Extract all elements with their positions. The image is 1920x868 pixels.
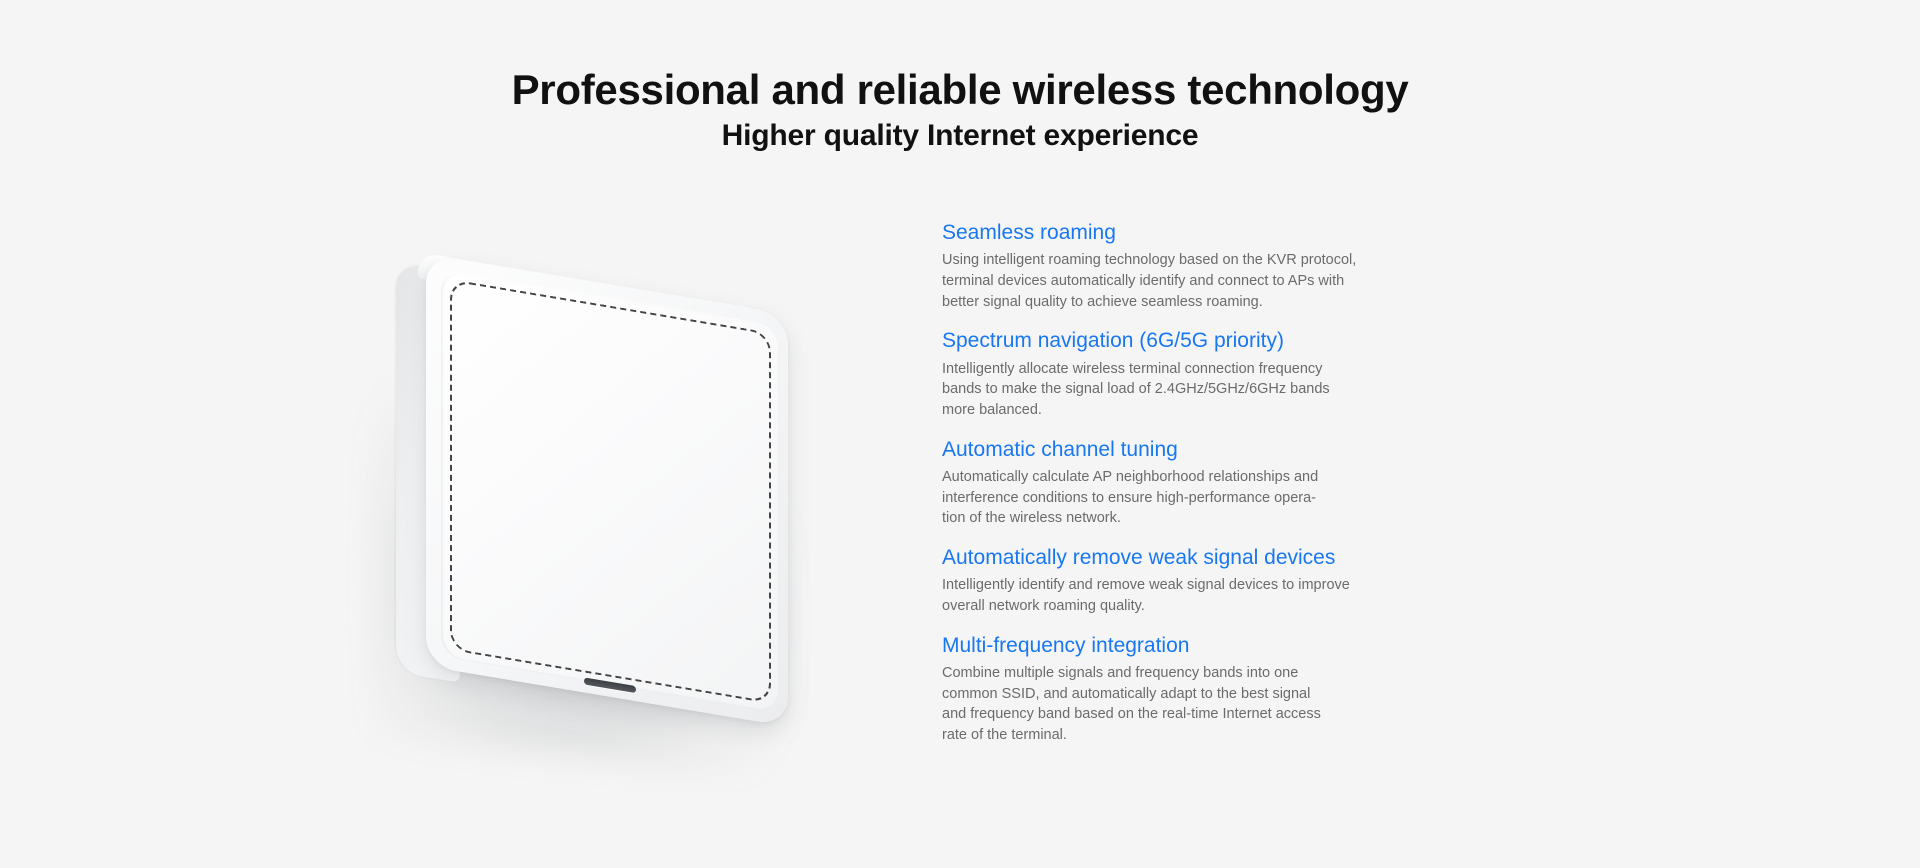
- feature-item-spectrum-navigation: Spectrum navigation (6G/5G priority) Int…: [942, 328, 1532, 420]
- wireless-access-point-device: [390, 248, 840, 718]
- feature-title: Automatic channel tuning: [942, 437, 1532, 462]
- page-title: Professional and reliable wireless techn…: [0, 66, 1920, 113]
- wireless-technology-feature-page: { "hero": { "title": "Professional and r…: [0, 0, 1920, 868]
- feature-item-multi-frequency-integration: Multi-frequency integration Combine mult…: [942, 633, 1532, 746]
- feature-title: Automatically remove weak signal devices: [942, 545, 1532, 570]
- page-subtitle: Higher quality Internet experience: [0, 119, 1920, 154]
- device-enclosure: [426, 254, 788, 727]
- feature-item-automatic-channel-tuning: Automatic channel tuning Automatically c…: [942, 437, 1532, 529]
- feature-title: Seamless roaming: [942, 220, 1532, 245]
- feature-description: Intelligently allocate wireless terminal…: [942, 359, 1502, 421]
- feature-description: Combine multiple signals and frequency b…: [942, 663, 1502, 746]
- feature-description: Intelligently identify and remove weak s…: [942, 575, 1502, 616]
- feature-description: Using intelligent roaming technology bas…: [942, 250, 1502, 312]
- feature-list: Seamless roaming Using intelligent roami…: [942, 220, 1532, 746]
- device-faceplate: [441, 270, 778, 713]
- device-ventilation-perforations: [450, 279, 771, 704]
- main-content: Seamless roaming Using intelligent roami…: [0, 190, 1920, 868]
- product-image-pane: [300, 190, 940, 868]
- feature-title: Spectrum navigation (6G/5G priority): [942, 328, 1532, 353]
- hero-heading: Professional and reliable wireless techn…: [0, 66, 1920, 154]
- feature-item-remove-weak-signal-devices: Automatically remove weak signal devices…: [942, 545, 1532, 617]
- feature-item-seamless-roaming: Seamless roaming Using intelligent roami…: [942, 220, 1532, 312]
- feature-title: Multi-frequency integration: [942, 633, 1532, 658]
- feature-description: Automatically calculate AP neighborhood …: [942, 467, 1502, 529]
